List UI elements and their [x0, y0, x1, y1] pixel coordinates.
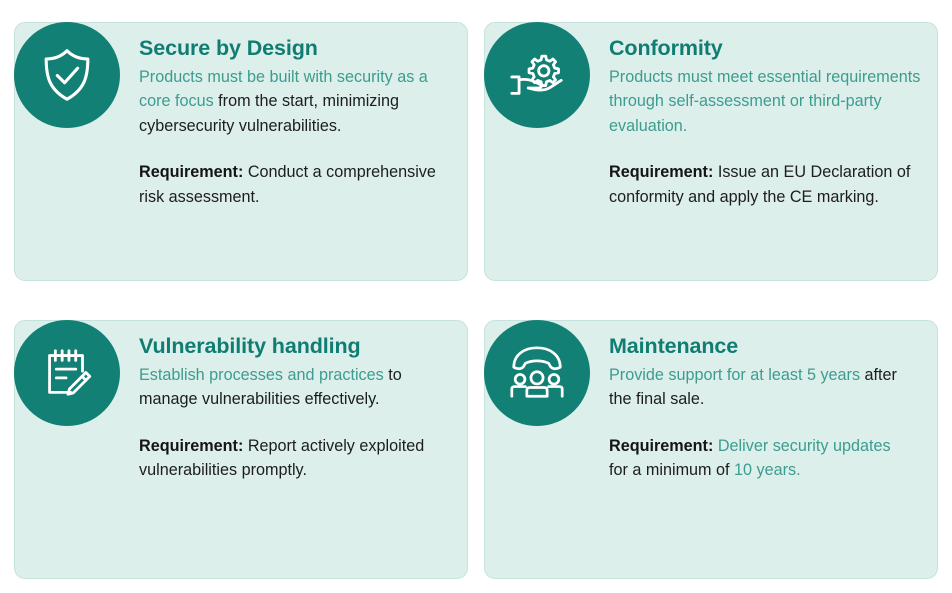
card-description: Products must meet essential requirement…: [609, 65, 921, 139]
requirement-green-1: Deliver security updates: [713, 437, 890, 455]
card-requirement: Requirement: Issue an EU Declaration of …: [609, 160, 921, 209]
gear-in-hand-icon: [484, 22, 590, 128]
card-requirement: Requirement: Conduct a comprehensive ris…: [139, 160, 457, 209]
card-body: Conformity Products must meet essential …: [609, 35, 927, 210]
card-title: Conformity: [609, 35, 927, 63]
card-description: Products must be built with security as …: [139, 65, 457, 139]
description-green: Establish processes and practices: [139, 366, 384, 384]
card-body: Secure by Design Products must be built …: [139, 35, 457, 210]
card-maintenance: Maintenance Provide support for at least…: [484, 320, 938, 579]
requirement-label: Requirement:: [139, 163, 243, 181]
card-vulnerability-handling: Vulnerability handling Establish process…: [14, 320, 468, 579]
card-body: Maintenance Provide support for at least…: [609, 333, 927, 483]
description-green: Products must meet essential requirement…: [609, 68, 920, 135]
requirement-label: Requirement:: [609, 163, 713, 181]
card-requirement: Requirement: Report actively exploited v…: [139, 434, 457, 483]
support-phone-people-icon: [484, 320, 590, 426]
card-description: Provide support for at least 5 years aft…: [609, 363, 909, 412]
card-description: Establish processes and practices to man…: [139, 363, 457, 412]
card-title: Maintenance: [609, 333, 927, 361]
requirement-label: Requirement:: [139, 437, 243, 455]
requirement-dark-mid: for a minimum of: [609, 461, 734, 479]
card-requirement: Requirement: Deliver security updates fo…: [609, 434, 909, 483]
card-conformity: Conformity Products must meet essential …: [484, 22, 938, 281]
card-title: Vulnerability handling: [139, 333, 457, 361]
card-secure-by-design: Secure by Design Products must be built …: [14, 22, 468, 281]
card-title: Secure by Design: [139, 35, 457, 63]
requirement-green-2: 10 years.: [734, 461, 801, 479]
clipboard-pencil-icon: [14, 320, 120, 426]
feature-card-grid: Secure by Design Products must be built …: [0, 0, 952, 593]
shield-check-icon: [14, 22, 120, 128]
description-green: Provide support for at least 5 years: [609, 366, 860, 384]
card-body: Vulnerability handling Establish process…: [139, 333, 457, 483]
requirement-label: Requirement:: [609, 437, 713, 455]
